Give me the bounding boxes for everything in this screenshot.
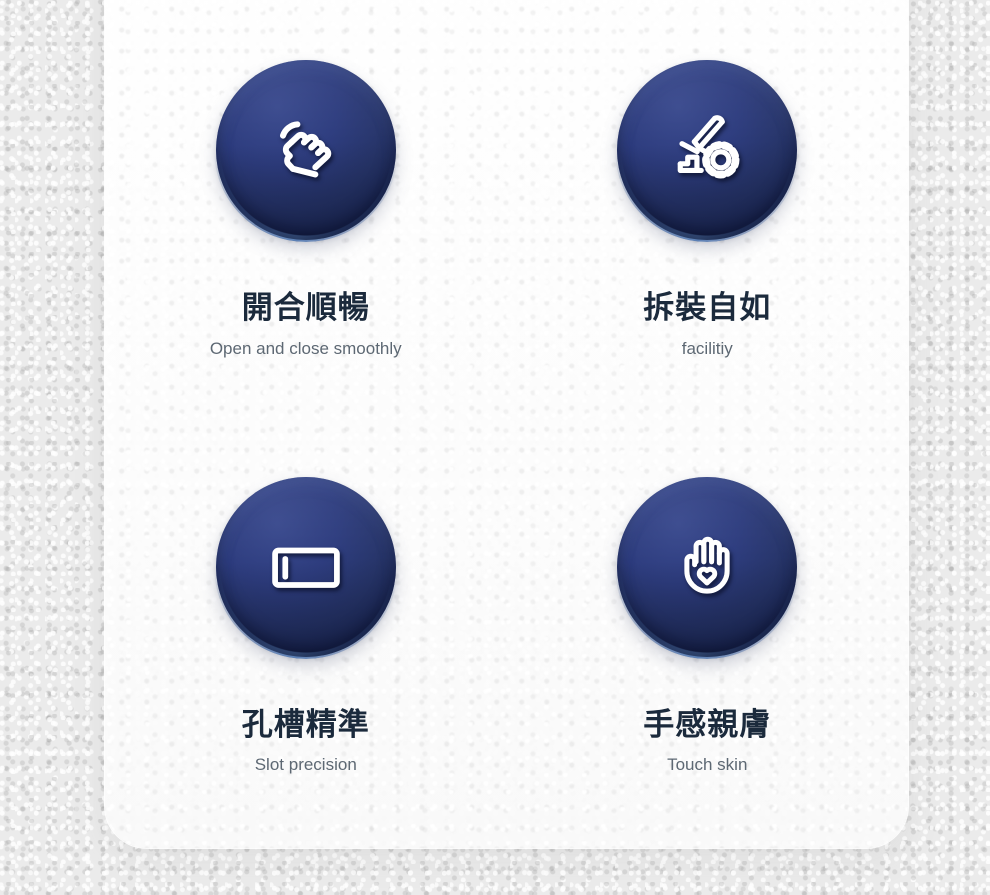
feature-item-slot[interactable]: 孔槽精準 Slot precision bbox=[105, 435, 507, 852]
feature-item-open-close[interactable]: 開合順暢 Open and close smoothly bbox=[105, 18, 507, 435]
feature-title-en: Touch skin bbox=[667, 755, 747, 775]
feature-title-cn: 開合順暢 bbox=[242, 290, 370, 326]
tool-gear-icon bbox=[661, 104, 753, 196]
tap-gesture-icon bbox=[260, 104, 352, 196]
slot-rectangle-icon bbox=[260, 521, 352, 613]
feature-title-cn: 手感親膚 bbox=[643, 707, 771, 743]
icon-badge-open-close[interactable] bbox=[216, 60, 396, 240]
feature-grid: 開合順暢 Open and close smoothly bbox=[105, 0, 908, 895]
feature-title-en: Slot precision bbox=[255, 755, 357, 775]
icon-badge-slot[interactable] bbox=[216, 477, 396, 657]
feature-title-cn: 孔槽精準 bbox=[242, 707, 370, 743]
icon-badge-assembly[interactable] bbox=[617, 60, 797, 240]
feature-item-assembly[interactable]: 拆裝自如 facilitiy bbox=[507, 18, 909, 435]
feature-title-en: facilitiy bbox=[682, 339, 733, 359]
hand-heart-icon bbox=[661, 521, 753, 613]
icon-badge-touch[interactable] bbox=[617, 477, 797, 657]
feature-title-en: Open and close smoothly bbox=[210, 339, 402, 359]
feature-item-touch[interactable]: 手感親膚 Touch skin bbox=[507, 435, 909, 852]
feature-title-cn: 拆裝自如 bbox=[643, 290, 771, 326]
